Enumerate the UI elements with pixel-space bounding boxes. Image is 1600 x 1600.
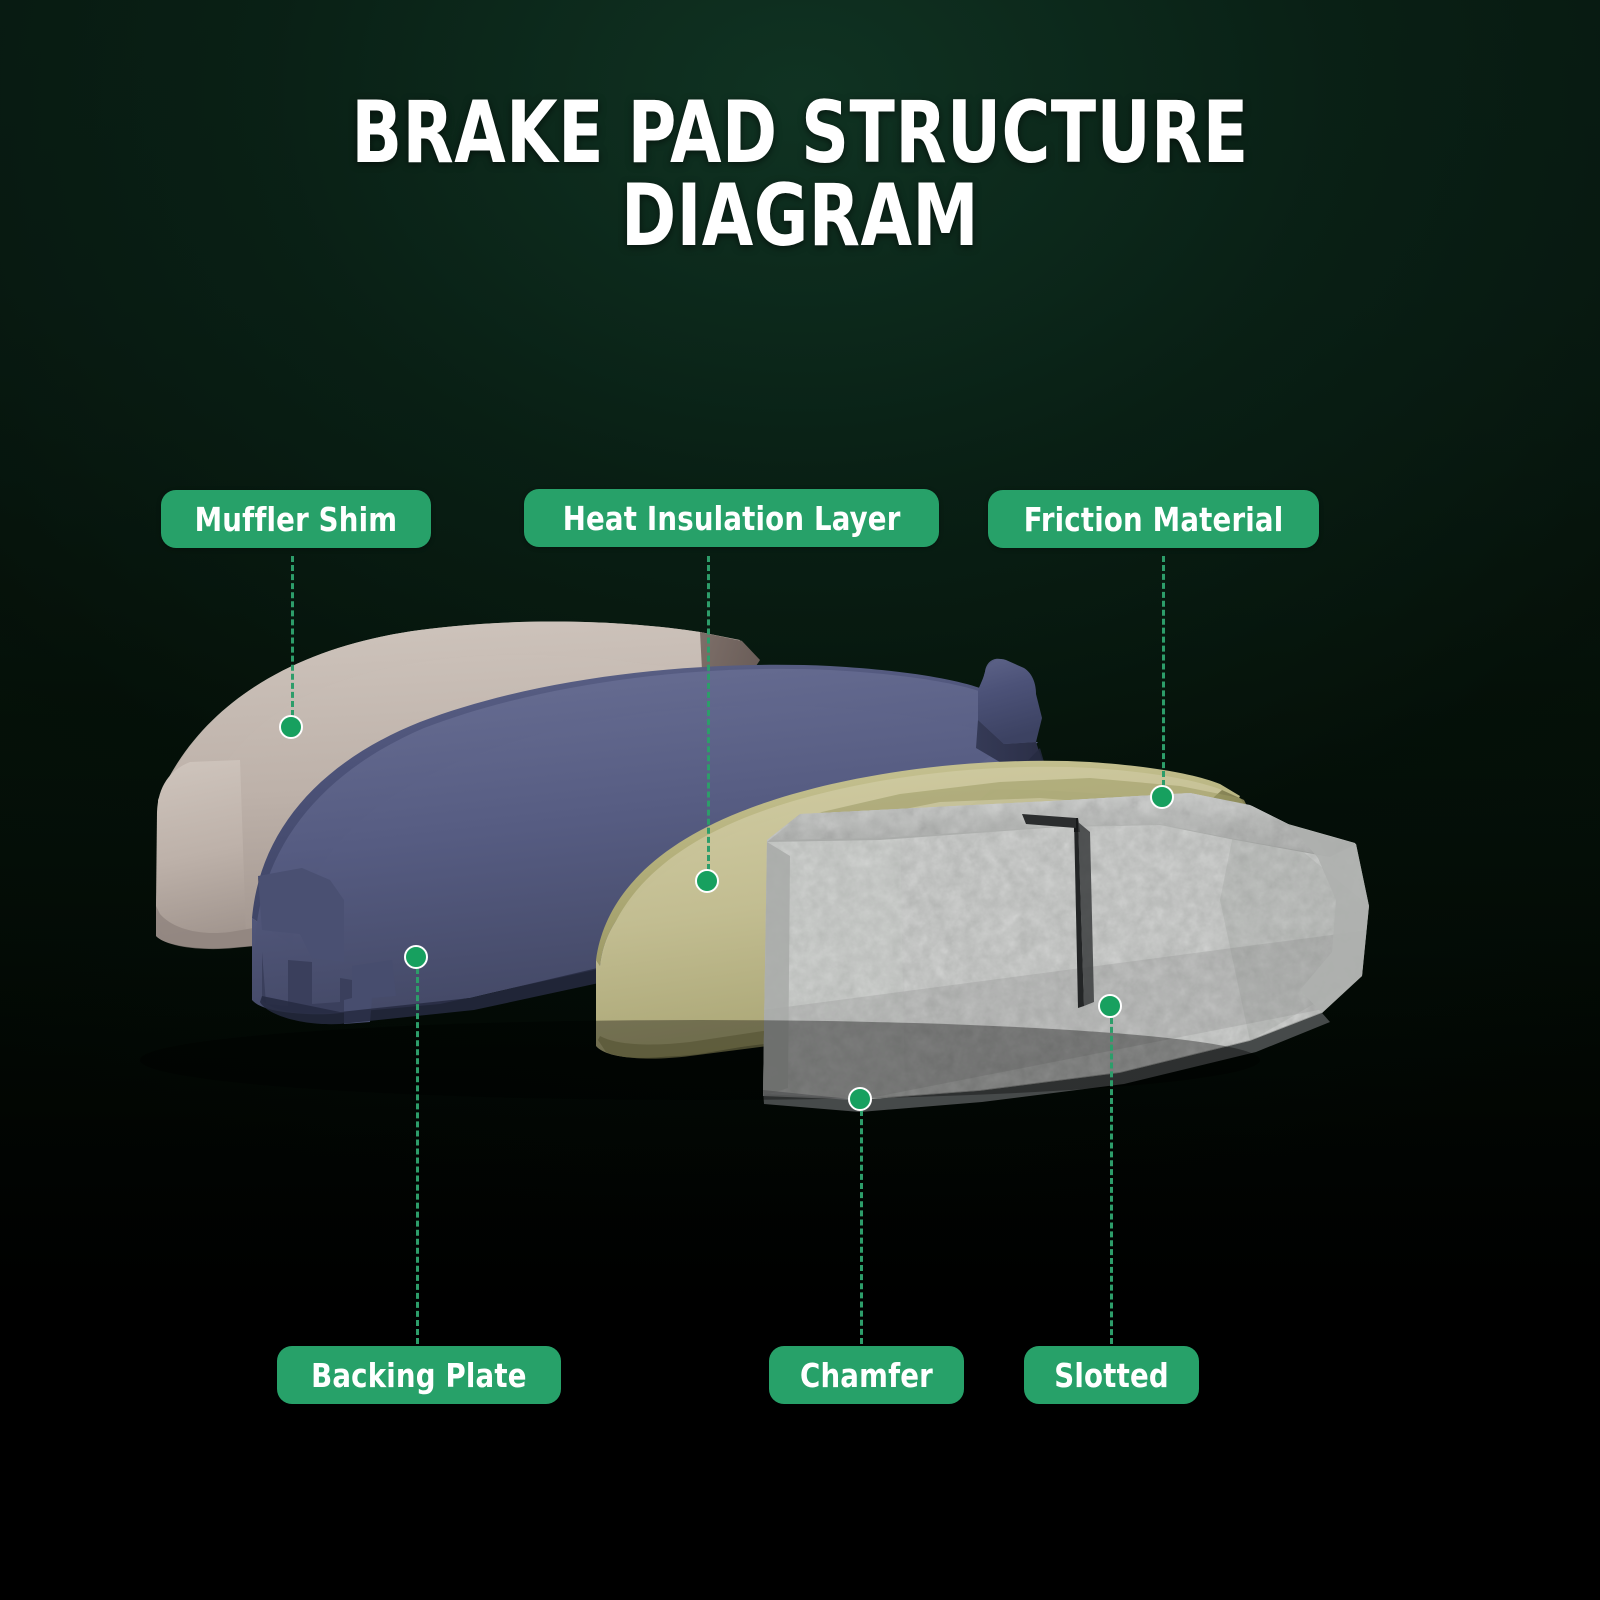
label-chamfer-text: Chamfer	[800, 1356, 933, 1395]
leader-muffler-shim	[291, 556, 294, 716]
label-heat-insulation-layer-text: Heat Insulation Layer	[563, 499, 901, 538]
leader-heat-insulation-layer	[707, 556, 710, 870]
label-muffler-shim-text: Muffler Shim	[195, 500, 398, 539]
page-title-line-1: BRAKE PAD STRUCTURE	[112, 92, 1488, 175]
label-chamfer[interactable]: Chamfer	[769, 1346, 964, 1404]
label-friction-material[interactable]: Friction Material	[988, 490, 1319, 548]
label-friction-material-text: Friction Material	[1024, 500, 1284, 539]
diagram-canvas: BRAKE PAD STRUCTURE DIAGRAM	[0, 0, 1600, 1600]
page-title-line-2: DIAGRAM	[112, 175, 1488, 258]
marker-friction-material[interactable]	[1150, 785, 1174, 809]
label-muffler-shim[interactable]: Muffler Shim	[161, 490, 431, 548]
leader-backing-plate	[416, 968, 419, 1344]
label-backing-plate[interactable]: Backing Plate	[277, 1346, 561, 1404]
marker-backing-plate[interactable]	[404, 945, 428, 969]
label-slotted[interactable]: Slotted	[1024, 1346, 1199, 1404]
marker-heat-insulation-layer[interactable]	[695, 869, 719, 893]
marker-muffler-shim[interactable]	[279, 715, 303, 739]
label-slotted-text: Slotted	[1054, 1356, 1169, 1395]
page-title: BRAKE PAD STRUCTURE DIAGRAM	[0, 92, 1600, 259]
marker-slotted[interactable]	[1098, 994, 1122, 1018]
label-backing-plate-text: Backing Plate	[311, 1356, 527, 1395]
marker-chamfer[interactable]	[848, 1087, 872, 1111]
leader-slotted	[1110, 1018, 1113, 1344]
label-heat-insulation-layer[interactable]: Heat Insulation Layer	[524, 489, 939, 547]
leader-chamfer	[860, 1110, 863, 1344]
leader-friction-material	[1162, 556, 1165, 786]
